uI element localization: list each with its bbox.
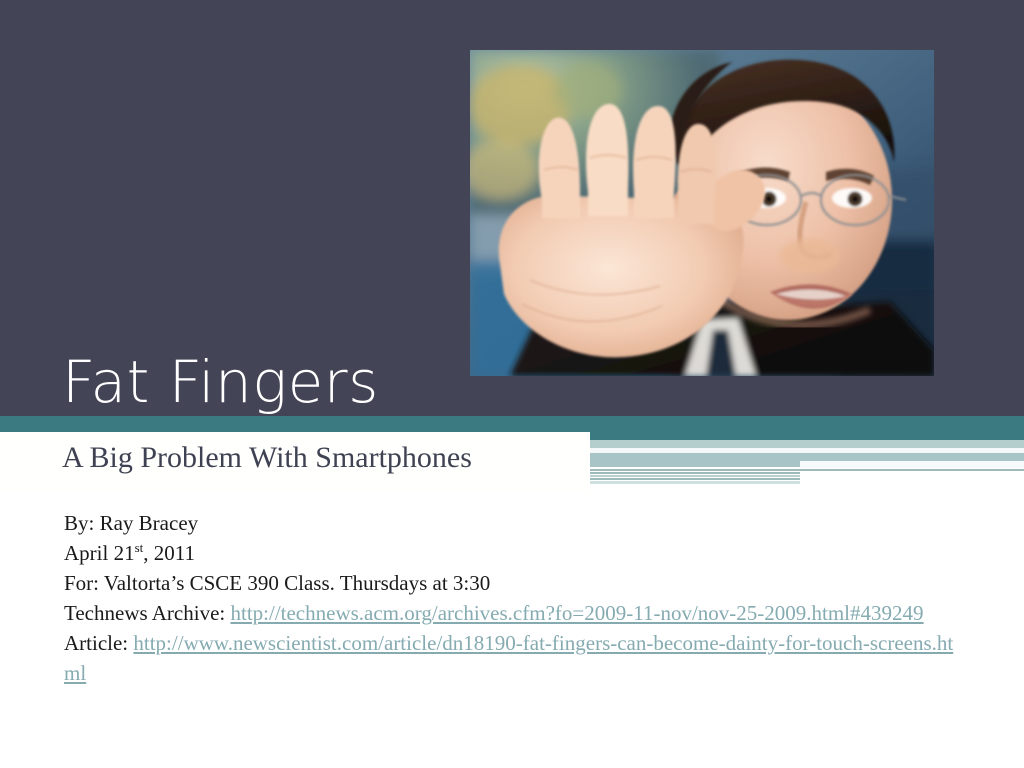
photo-illustration	[470, 50, 934, 376]
stripe-teal-main	[0, 416, 1024, 432]
date-ordinal-suffix: st	[135, 540, 144, 555]
date-day: April 21	[64, 541, 135, 565]
article-link[interactable]: http://www.newscientist.com/article/dn18…	[64, 631, 953, 685]
author-name: Ray Bracey	[100, 511, 199, 535]
technews-label: Technews Archive:	[64, 601, 225, 625]
technews-archive-link[interactable]: http://technews.acm.org/archives.cfm?fo=…	[230, 601, 923, 625]
presentation-slide: Fat Fingers A Big Problem With Smartphon…	[0, 0, 1024, 768]
credits-block: By: Ray Bracey April 21st, 2011 For: Val…	[64, 508, 964, 688]
author-line: By: Ray Bracey	[64, 508, 964, 538]
date-line: April 21st, 2011	[64, 538, 964, 568]
date-year: , 2011	[143, 541, 195, 565]
slide-subtitle: A Big Problem With Smartphones	[62, 440, 602, 476]
article-line: Article: http://www.newscientist.com/art…	[64, 628, 964, 688]
author-label: By:	[64, 511, 94, 535]
article-label: Article:	[64, 631, 128, 655]
title-photo	[470, 50, 934, 376]
course-line: For: Valtorta’s CSCE 390 Class. Thursday…	[64, 568, 964, 598]
technews-line: Technews Archive: http://technews.acm.or…	[64, 598, 964, 628]
slide-title: Fat Fingers	[62, 352, 379, 413]
stripe-white-2	[800, 461, 1024, 468]
